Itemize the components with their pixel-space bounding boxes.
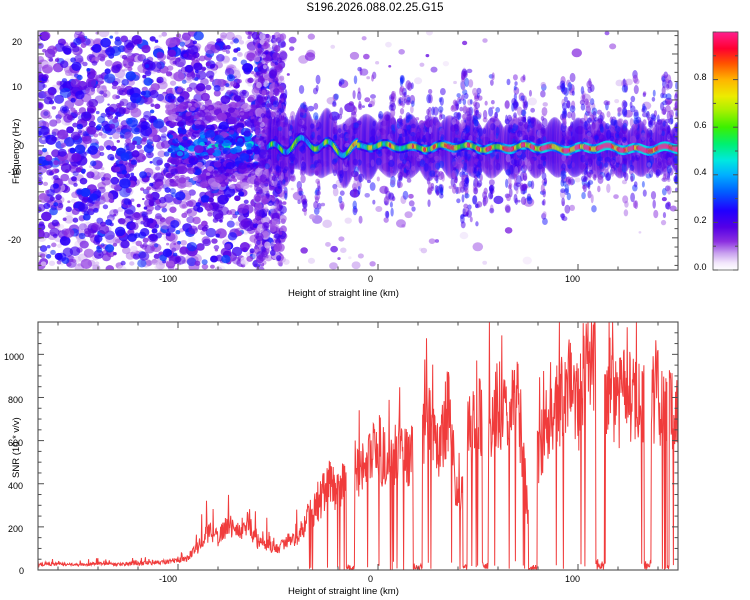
colorbar-tick-02: 0.2	[694, 215, 707, 225]
snr-tick-400: 400	[8, 481, 23, 491]
freq-tick-neg20: -20	[8, 235, 21, 245]
colorbar-tick-08: 0.8	[694, 72, 707, 82]
figure-canvas: S196.2026.088.02.25.G15	[0, 0, 750, 600]
colorbar-tick-06: 0.6	[694, 120, 707, 130]
height-tick-neg100-top: -100	[159, 274, 177, 284]
snr-ylabel: SNR (10 * v/v)	[11, 417, 22, 478]
height-tick-0-bot: 0	[368, 574, 373, 584]
height-tick-neg100-bot: -100	[159, 574, 177, 584]
snr-plot-area	[38, 322, 678, 570]
spectrogram-panel	[0, 0, 750, 300]
freq-tick-10: 10	[12, 82, 22, 92]
snr-xlabel: Height of straight line (km)	[288, 586, 399, 597]
snr-panel	[0, 300, 750, 600]
height-tick-0-top: 0	[368, 274, 373, 284]
spectrogram-xlabel: Height of straight line (km)	[288, 288, 399, 299]
height-tick-100-top: 100	[565, 274, 580, 284]
colorbar-tick-00: 0.0	[694, 262, 707, 272]
colorbar	[713, 32, 738, 270]
snr-tick-0: 0	[19, 566, 24, 576]
freq-tick-20: 20	[12, 37, 22, 47]
height-tick-100-bot: 100	[565, 574, 580, 584]
spectrogram-ylabel: Frequency (Hz)	[11, 119, 22, 184]
snr-tick-800: 800	[8, 395, 23, 405]
snr-tick-1000: 1000	[4, 352, 24, 362]
colorbar-tick-04: 0.4	[694, 167, 707, 177]
snr-tick-200: 200	[8, 524, 23, 534]
